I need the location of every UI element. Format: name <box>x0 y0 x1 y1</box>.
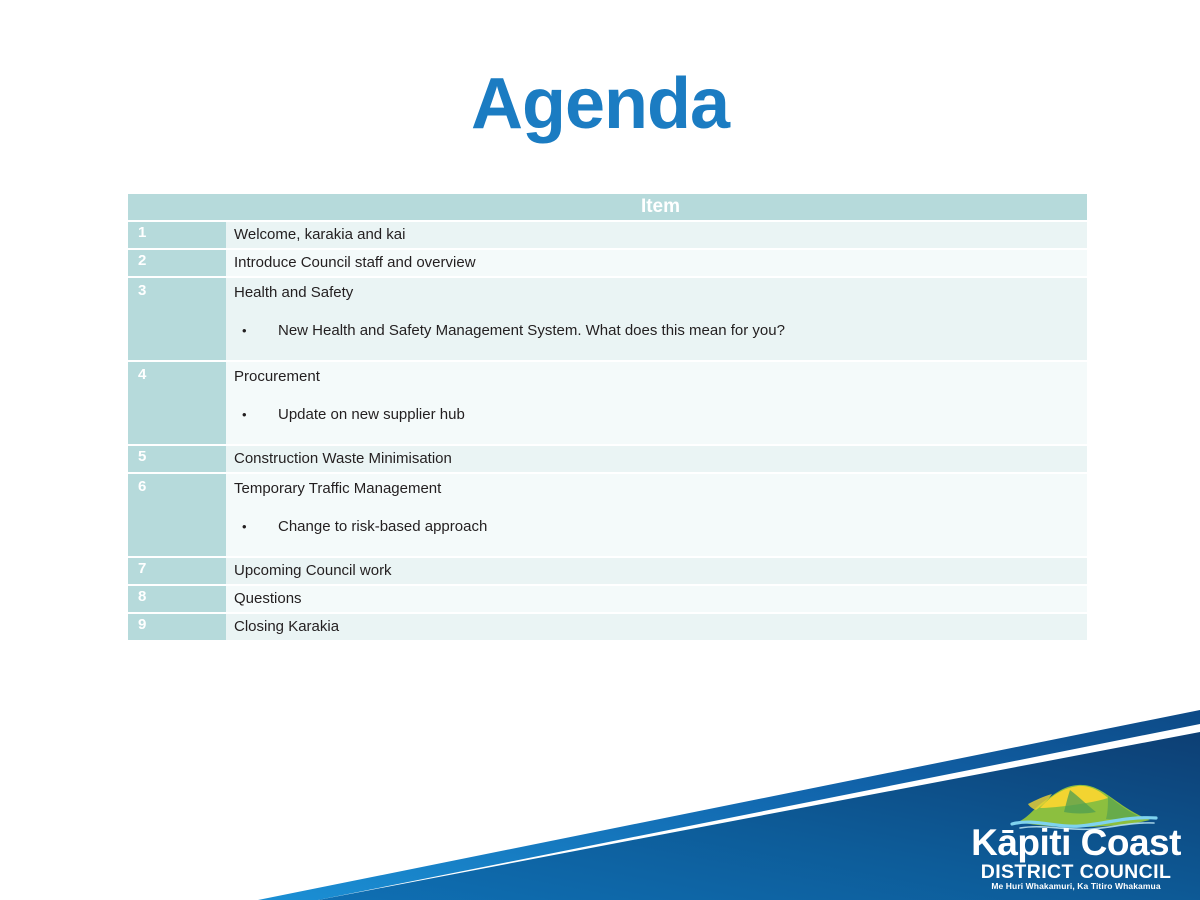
row-content: Upcoming Council work <box>226 558 1087 586</box>
bullet-point-icon: • <box>234 518 278 536</box>
row-title: Temporary Traffic Management <box>234 480 1087 498</box>
bullet-text: Change to risk-based approach <box>278 518 1087 536</box>
bullet-point-icon: • <box>234 406 278 424</box>
table-row[interactable]: 1 Welcome, karakia and kai <box>128 222 1087 250</box>
row-number: 6 <box>128 474 226 558</box>
row-number: 8 <box>128 586 226 614</box>
row-title: Introduce Council staff and overview <box>234 254 1087 272</box>
header-item-cell: Item <box>226 194 1087 222</box>
header-number-cell <box>128 194 226 222</box>
row-number: 5 <box>128 446 226 474</box>
table-row[interactable]: 6 Temporary Traffic Management • Change … <box>128 474 1087 558</box>
table-row[interactable]: 5 Construction Waste Minimisation <box>128 446 1087 474</box>
table-row[interactable]: 8 Questions <box>128 586 1087 614</box>
table-row[interactable]: 4 Procurement • Update on new supplier h… <box>128 362 1087 446</box>
row-number: 4 <box>128 362 226 446</box>
bullet-point-icon: • <box>234 322 278 340</box>
row-content: Construction Waste Minimisation <box>226 446 1087 474</box>
presentation-slide: Agenda Item 1 Welcome, karakia and kai 2… <box>0 0 1200 900</box>
agenda-table-body: Item 1 Welcome, karakia and kai 2 Introd… <box>128 194 1087 642</box>
row-content: Questions <box>226 586 1087 614</box>
row-bullet: • Change to risk-based approach <box>234 518 1087 536</box>
table-row[interactable]: 3 Health and Safety • New Health and Saf… <box>128 278 1087 362</box>
row-title: Health and Safety <box>234 284 1087 302</box>
page-title: Agenda <box>0 68 1200 140</box>
row-title: Procurement <box>234 368 1087 386</box>
row-content: Welcome, karakia and kai <box>226 222 1087 250</box>
bullet-text: Update on new supplier hub <box>278 406 1087 424</box>
row-number: 7 <box>128 558 226 586</box>
logo: Kāpiti Coast DISTRICT COUNCIL Me Huri Wh… <box>962 782 1190 894</box>
bullet-text: New Health and Safety Management System.… <box>278 322 1087 340</box>
table-row[interactable]: 2 Introduce Council staff and overview <box>128 250 1087 278</box>
row-bullet: • New Health and Safety Management Syste… <box>234 322 1087 340</box>
row-bullet: • Update on new supplier hub <box>234 406 1087 424</box>
row-content: Procurement • Update on new supplier hub <box>226 362 1087 446</box>
agenda-table: Item 1 Welcome, karakia and kai 2 Introd… <box>128 194 1087 642</box>
row-number: 3 <box>128 278 226 362</box>
row-number: 1 <box>128 222 226 250</box>
table-row[interactable]: 9 Closing Karakia <box>128 614 1087 642</box>
row-number: 9 <box>128 614 226 642</box>
row-number: 2 <box>128 250 226 278</box>
row-content: Temporary Traffic Management • Change to… <box>226 474 1087 558</box>
logo-subtitle: DISTRICT COUNCIL <box>962 862 1190 882</box>
row-content: Health and Safety • New Health and Safet… <box>226 278 1087 362</box>
row-title: Closing Karakia <box>234 618 1087 636</box>
row-content: Closing Karakia <box>226 614 1087 642</box>
row-content: Introduce Council staff and overview <box>226 250 1087 278</box>
row-title: Questions <box>234 590 1087 608</box>
row-title: Construction Waste Minimisation <box>234 450 1087 468</box>
table-header-row: Item <box>128 194 1087 222</box>
logo-tagline: Me Huri Whakamuri, Ka Titiro Whakamua <box>962 881 1190 891</box>
row-title: Upcoming Council work <box>234 562 1087 580</box>
row-title: Welcome, karakia and kai <box>234 226 1087 244</box>
table-row[interactable]: 7 Upcoming Council work <box>128 558 1087 586</box>
logo-name: Kāpiti Coast <box>962 822 1190 864</box>
